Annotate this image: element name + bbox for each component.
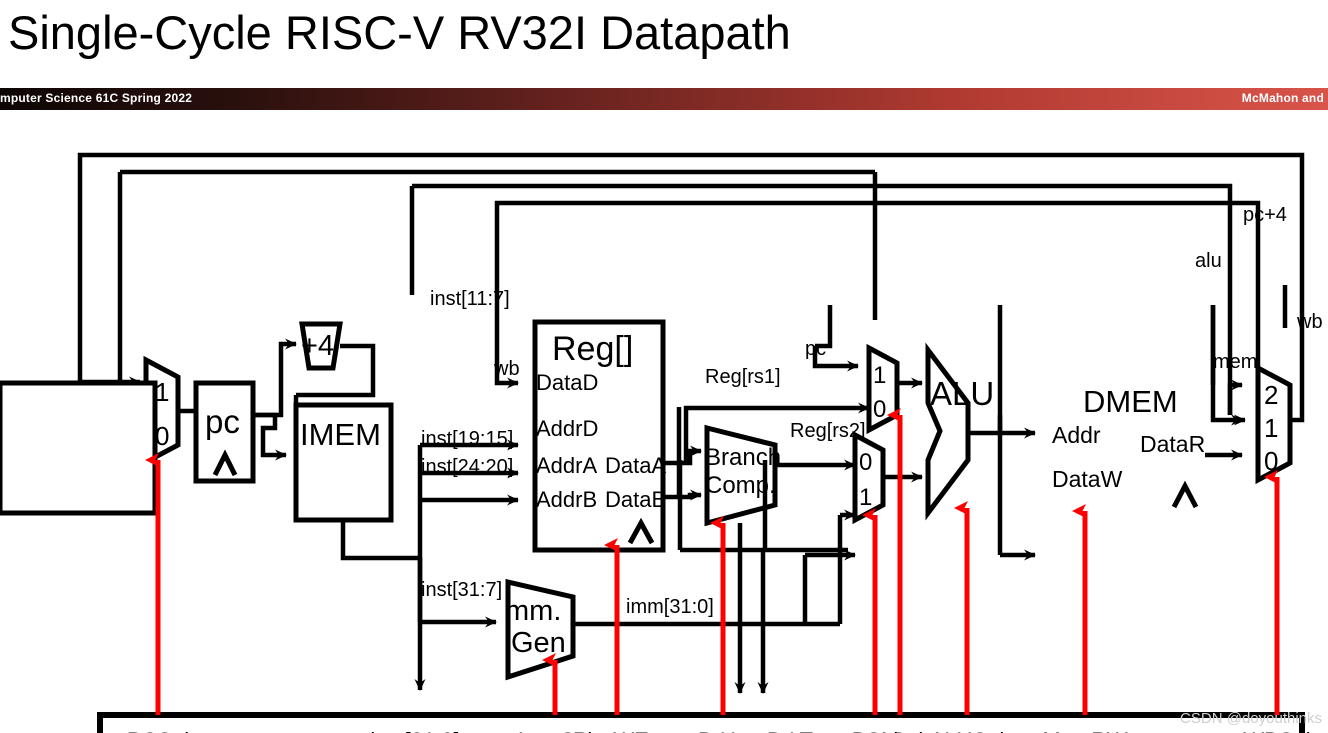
bselmux-label-1: 1 — [859, 484, 872, 511]
regfile-port-datab: DataB — [605, 487, 666, 512]
label-wb-out: wb — [1296, 311, 1323, 333]
wbmux-label-2: 2 — [1264, 380, 1278, 410]
control-label-memrw: MemRW — [1042, 728, 1127, 733]
imem-label: IMEM — [300, 417, 381, 452]
immgen-label-1: mm. — [505, 595, 561, 627]
aselmux-label-1: 1 — [873, 362, 886, 389]
control-label-brlt: BrLT — [767, 728, 813, 733]
label-pc-to-asel: pc — [805, 338, 826, 360]
dmem-title: DMEM — [1083, 384, 1178, 419]
regfile-port-addrd: AddrD — [536, 416, 598, 441]
regfile-port-addra: AddrA — [536, 453, 597, 478]
slide-header-bar: mputer Science 61C Spring 2022 McMahon a… — [0, 88, 1328, 110]
regfile-port-addrb: AddrB — [536, 487, 597, 512]
control-label-pcsel: PCSel — [127, 728, 189, 733]
label-alu-to-wbmux: alu — [1195, 250, 1222, 272]
wire-group — [80, 155, 1302, 415]
control-label-brun: BrUn — [698, 728, 748, 733]
register-file-block: Reg[] DataD AddrD AddrA AddrB DataA Data… — [535, 322, 666, 550]
imem-block: IMEM — [296, 405, 391, 520]
pc-register: pc — [196, 383, 253, 481]
writeback-mux: 2 1 0 — [1258, 368, 1290, 480]
control-label-alusel: ALUSel — [930, 728, 1005, 733]
control-label-inst310: inst[31:0] — [370, 728, 459, 733]
label-inst-19-15: inst[19:15] — [421, 428, 513, 450]
label-mem-to-wbmux: mem — [1213, 351, 1257, 373]
dmem-port-datar: DataR — [1140, 431, 1205, 457]
plus4-label: +4 — [301, 330, 334, 362]
regfile-title: Reg[] — [552, 330, 633, 368]
wbmux-label-0: 0 — [1264, 446, 1278, 476]
branch-comparator-block: Branch Comp. — [705, 428, 781, 523]
control-label-wbsel: WBSel — [1243, 728, 1310, 733]
plus4-adder: +4 — [301, 324, 340, 368]
imm-gen-block: mm. Gen — [505, 582, 573, 677]
label-wb-to-regfile: wb — [493, 358, 520, 380]
label-inst-11-7: inst[11:7] — [430, 288, 510, 310]
instructor-label: McMahon and — [1242, 91, 1324, 105]
regfile-port-datad: DataD — [536, 370, 598, 395]
immgen-label-2: Gen — [511, 627, 566, 659]
dmem-port-dataw: DataW — [1052, 466, 1123, 492]
label-imm-31-0: imm[31:0] — [626, 596, 714, 618]
regfile-port-dataa: DataA — [605, 453, 666, 478]
watermark-text: CSDN @doyouthinks — [1180, 710, 1322, 727]
page-title: Single-Cycle RISC-V RV32I Datapath — [8, 2, 1008, 64]
label-pc4-to-wbmux: pc+4 — [1243, 204, 1287, 226]
course-label: mputer Science 61C Spring 2022 — [0, 91, 192, 105]
alu-label: ALU — [930, 375, 994, 412]
aselmux-label-0: 0 — [873, 396, 886, 423]
datapath-diagram: 1 0 alu pc+4 pc +4 IMEM inst[11:7 — [0, 115, 1328, 733]
label-inst-24-20: inst[24:20] — [421, 456, 513, 478]
label-reg-rs1: Reg[rs1] — [705, 366, 781, 388]
dmem-port-addr: Addr — [1052, 422, 1101, 448]
wbmux-label-1: 1 — [1264, 413, 1278, 443]
asel-mux: 1 0 — [869, 348, 897, 430]
bselmux-label-0: 0 — [859, 449, 872, 476]
branchcomp-label-1: Branch — [705, 444, 781, 471]
control-label-asel: ASel — [877, 728, 923, 733]
control-label-regwen: RegWEn — [573, 728, 661, 733]
bsel-mux: 0 1 — [855, 435, 883, 520]
pc-label: pc — [205, 403, 240, 440]
label-inst-31-7: inst[31:7] — [421, 579, 502, 601]
